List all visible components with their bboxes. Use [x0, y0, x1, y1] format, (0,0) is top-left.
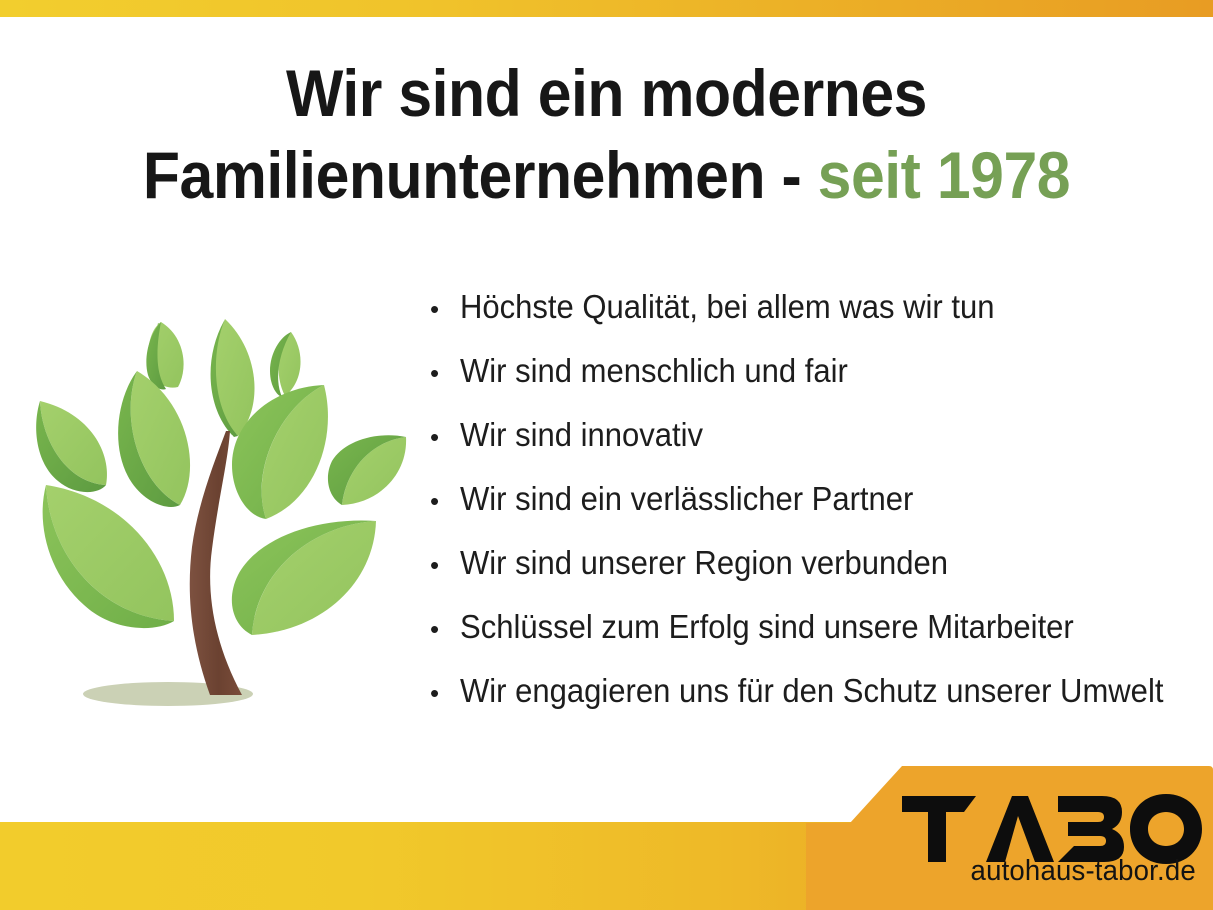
list-item-label: Höchste Qualität, bei allem was wir tun [460, 288, 994, 326]
headline-line-2: Familienunternehmen - seit 1978 [49, 134, 1165, 216]
headline-line-1: Wir sind ein modernes [49, 52, 1165, 134]
list-item-label: Wir engagieren uns für den Schutz unsere… [460, 672, 1163, 710]
slide-canvas: Wir sind ein modernes Familienunternehme… [0, 0, 1213, 910]
bullet-dot-icon: • [430, 552, 460, 578]
tree-icon [28, 305, 420, 730]
list-item: • Wir engagieren uns für den Schutz unse… [430, 672, 1200, 736]
list-item-label: Wir sind ein verlässlicher Partner [460, 480, 913, 518]
list-item: • Wir sind ein verlässlicher Partner [430, 480, 1200, 544]
bullet-dot-icon: • [430, 360, 460, 386]
logo-domain-text: autohaus-tabor.de [826, 855, 1213, 888]
list-item-label: Wir sind menschlich und fair [460, 352, 848, 390]
headline-line-2-plain: Familienunternehmen - [143, 138, 818, 212]
bullet-dot-icon: • [430, 488, 460, 514]
list-item-label: Wir sind unserer Region verbunden [460, 544, 948, 582]
top-accent-bar [0, 0, 1213, 17]
list-item-label: Schlüssel zum Erfolg sind unsere Mitarbe… [460, 608, 1074, 646]
page-title: Wir sind ein modernes Familienunternehme… [49, 52, 1165, 216]
headline-accent-year: seit 1978 [818, 138, 1070, 212]
value-list: • Höchste Qualität, bei allem was wir tu… [430, 288, 1200, 736]
list-item: • Schlüssel zum Erfolg sind unsere Mitar… [430, 608, 1200, 672]
tree-illustration [28, 305, 420, 730]
brand-logo[interactable]: autohaus-tabor.de [806, 762, 1213, 910]
bullet-dot-icon: • [430, 424, 460, 450]
list-item: • Wir sind menschlich und fair [430, 352, 1200, 416]
bullet-dot-icon: • [430, 680, 460, 706]
list-item: • Höchste Qualität, bei allem was wir tu… [430, 288, 1200, 352]
bullet-dot-icon: • [430, 296, 460, 322]
list-item-label: Wir sind innovativ [460, 416, 703, 454]
list-item: • Wir sind innovativ [430, 416, 1200, 480]
list-item: • Wir sind unserer Region verbunden [430, 544, 1200, 608]
bullet-dot-icon: • [430, 616, 460, 642]
